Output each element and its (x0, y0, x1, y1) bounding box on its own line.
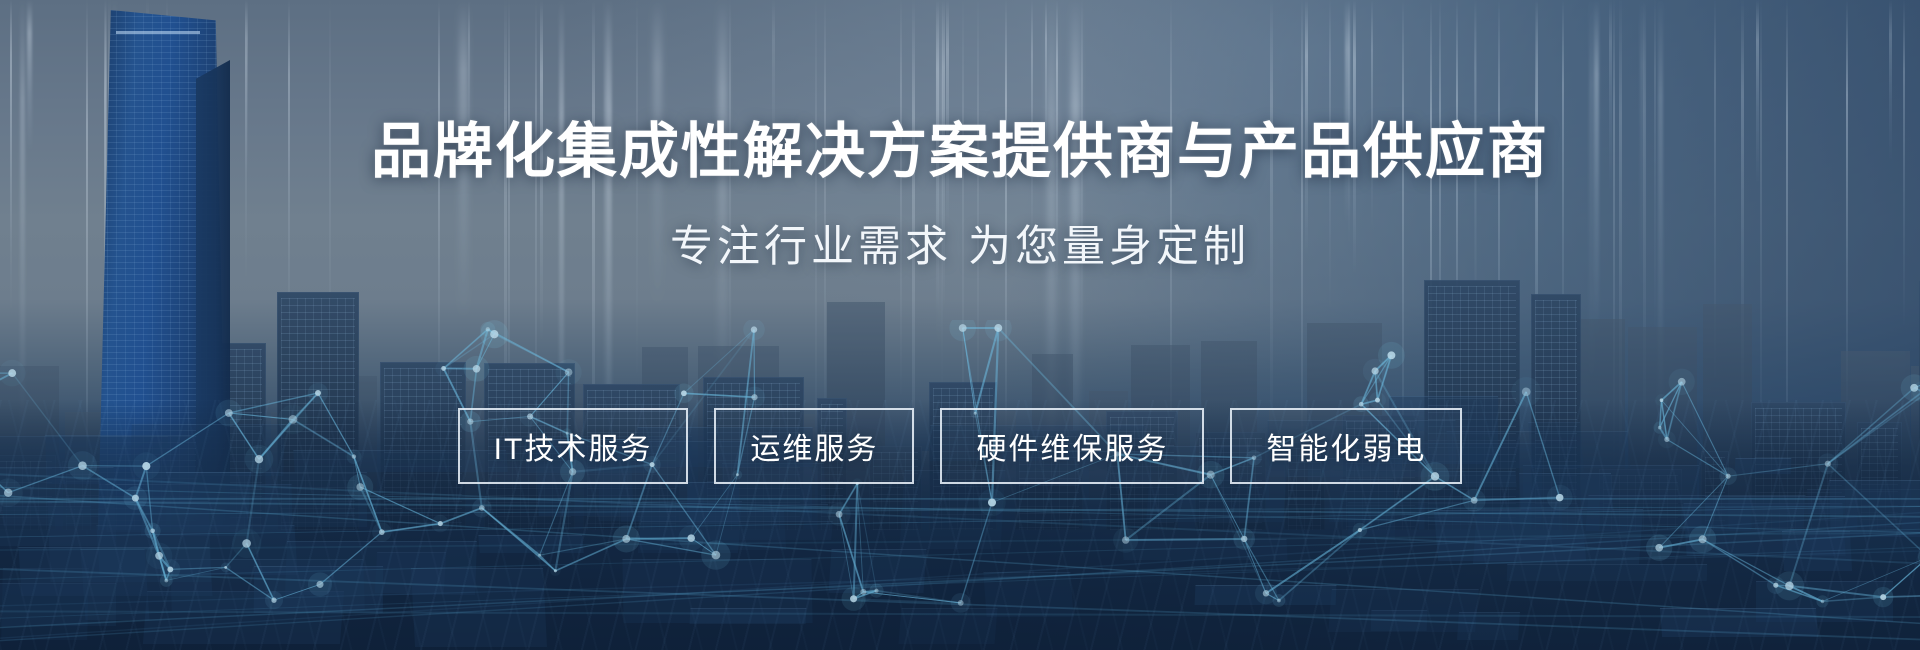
service-chip-label: 运维服务 (750, 424, 878, 468)
banner-subheadline: 专注行业需求 为您量身定制 (0, 212, 1920, 274)
banner-content: 品牌化集成性解决方案提供商与产品供应商 专注行业需求 为您量身定制 IT技术服务… (0, 0, 1920, 650)
service-chip-label: 硬件维保服务 (976, 424, 1168, 468)
service-chip-smart-low-voltage[interactable]: 智能化弱电 (1230, 408, 1462, 484)
service-chip-hardware-maintenance[interactable]: 硬件维保服务 (940, 408, 1204, 484)
service-chip-label: 智能化弱电 (1266, 424, 1426, 468)
service-chip-operations[interactable]: 运维服务 (714, 408, 914, 484)
service-chip-row: IT技术服务 运维服务 硬件维保服务 智能化弱电 (0, 408, 1920, 484)
service-chip-label: IT技术服务 (494, 424, 653, 468)
banner-headline: 品牌化集成性解决方案提供商与产品供应商 (0, 118, 1920, 185)
service-chip-it-technical[interactable]: IT技术服务 (458, 408, 689, 484)
hero-banner: 品牌化集成性解决方案提供商与产品供应商 专注行业需求 为您量身定制 IT技术服务… (0, 0, 1920, 650)
